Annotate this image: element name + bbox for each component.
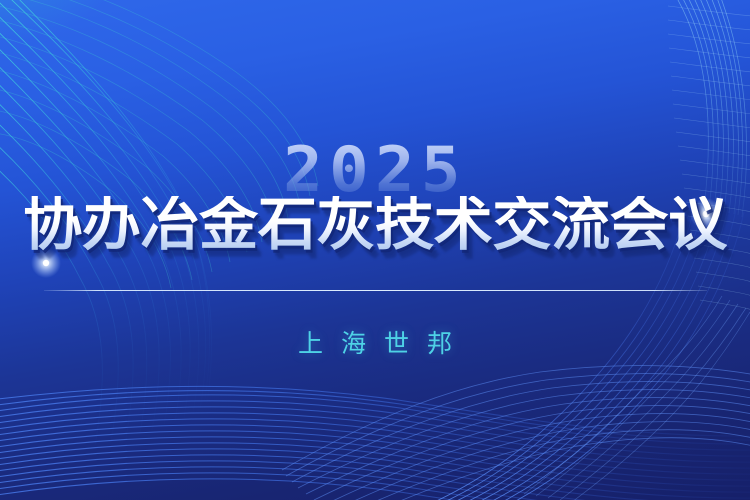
page-title: 协办冶金石灰技术交流会议 <box>23 196 727 254</box>
poster-content: 2025 协办冶金石灰技术交流会议 上海世邦 <box>0 0 750 500</box>
organization-subtitle: 上海世邦 <box>0 324 750 360</box>
conference-poster: 2025 协办冶金石灰技术交流会议 上海世邦 <box>0 0 750 500</box>
main-title-wrapper: 协办冶金石灰技术交流会议 <box>0 196 750 254</box>
divider <box>44 290 707 291</box>
